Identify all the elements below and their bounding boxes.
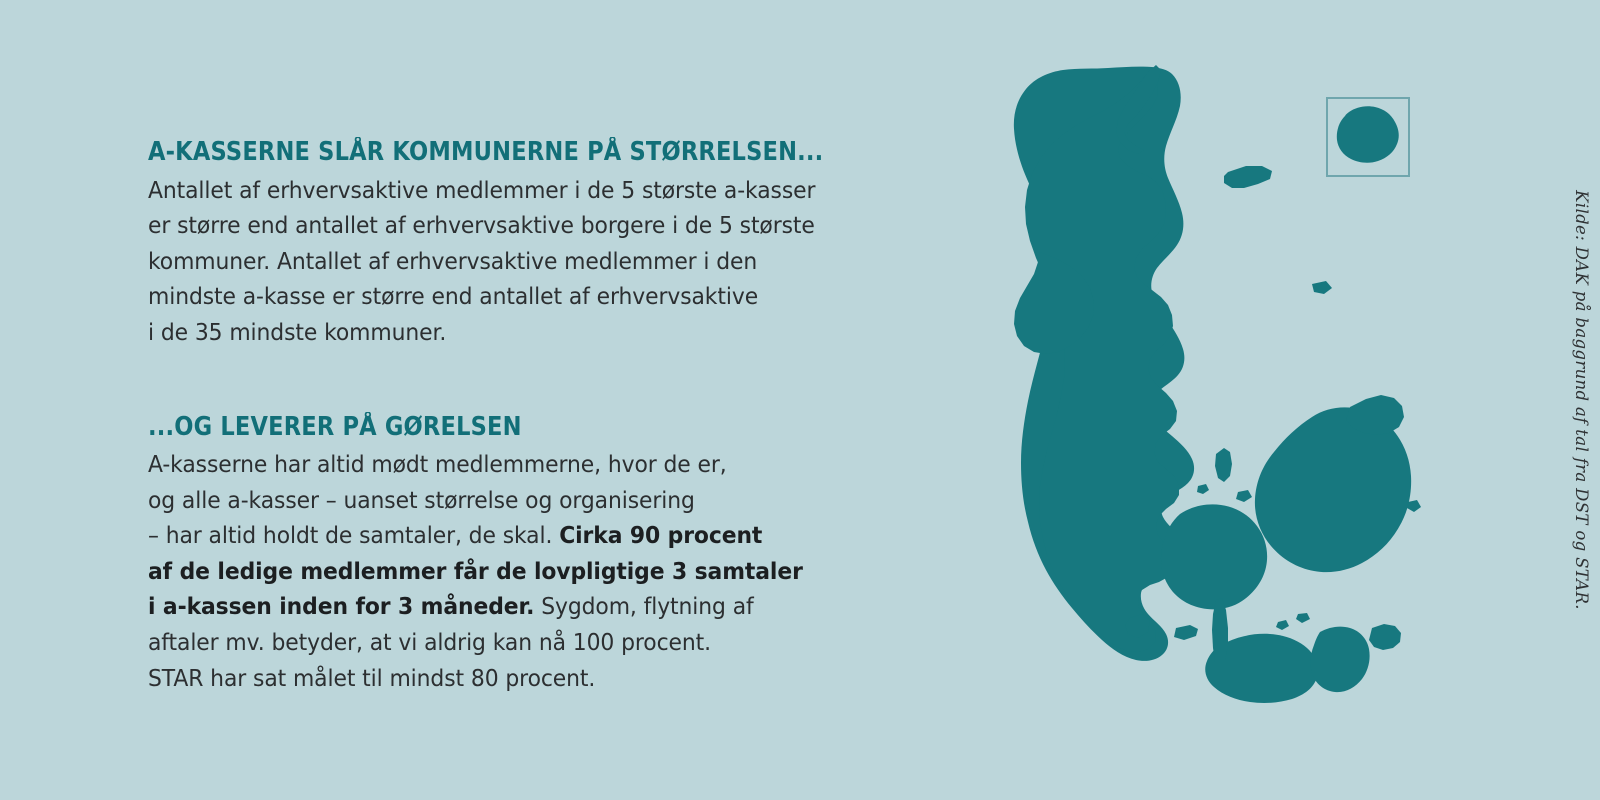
heading-size: A-KASSERNE SLÅR KOMMUNERNE PÅ STØRRELSEN… (148, 138, 821, 167)
bornholm-inset (1327, 98, 1409, 176)
shape-aeroe (1174, 625, 1198, 640)
shape-moen (1369, 624, 1401, 650)
body-line: A-kasserne har altid mødt medlemmerne, h… (148, 447, 859, 483)
paragraph-size: Antallet af erhvervsaktive medlemmer i d… (148, 173, 859, 351)
infographic-canvas: A-KASSERNE SLÅR KOMMUNERNE PÅ STØRRELSEN… (0, 0, 1600, 800)
body-line: er større end antallet af erhvervsaktive… (148, 208, 859, 244)
shape-small-isle-b (1276, 620, 1289, 630)
emphasis-line: af de ledige medlemmer får de lovpligtig… (148, 554, 859, 590)
shape-langeland (1212, 598, 1228, 666)
shape-samsoe (1215, 448, 1232, 482)
shape-small-isle-d (1407, 500, 1421, 512)
emphasis-run: Cirka 90 procent (559, 521, 762, 549)
body-line: kommuner. Antallet af erhvervsaktive med… (148, 244, 859, 280)
shape-endelave (1197, 484, 1209, 494)
body-text-run: – har altid holdt de samtaler, de skal. (148, 521, 559, 549)
shape-falster (1310, 627, 1369, 693)
body-text-run: Sygdom, flytning af (534, 592, 753, 620)
body-line: mindste a-kasse er større end antallet a… (148, 279, 859, 315)
paragraph-delivery: A-kasserne har altid mødt medlemmerne, h… (148, 447, 859, 696)
shape-small-isle-c (1296, 613, 1310, 623)
body-line: i de 35 mindste kommuner. (148, 315, 859, 351)
heading-delivery: ...OG LEVERER PÅ GØRELSEN (148, 413, 821, 442)
denmark-map (880, 62, 1480, 722)
shape-bornholm (1337, 106, 1399, 163)
body-line: STAR har sat målet til mindst 80 procent… (148, 661, 859, 697)
body-line: aftaler mv. betyder, at vi aldrig kan nå… (148, 625, 859, 661)
body-line-mixed: i a-kassen inden for 3 måneder. Sygdom, … (148, 589, 859, 625)
shape-anholt (1312, 281, 1332, 294)
source-credit: Kilde: DAK på baggrund af tal fra DST og… (1573, 190, 1592, 610)
body-line: og alle a-kasser – uanset størrelse og o… (148, 483, 859, 519)
body-line-mixed: – har altid holdt de samtaler, de skal. … (148, 518, 859, 554)
shape-laesoe (1224, 166, 1272, 188)
body-line: Antallet af erhvervsaktive medlemmer i d… (148, 173, 859, 209)
emphasis-run: i a-kassen inden for 3 måneder. (148, 592, 534, 620)
shape-fyn (1161, 504, 1267, 609)
text-block-size: A-KASSERNE SLÅR KOMMUNERNE PÅ STØRRELSEN… (148, 138, 908, 351)
shape-small-isle-a (1236, 490, 1252, 502)
text-column: A-KASSERNE SLÅR KOMMUNERNE PÅ STØRRELSEN… (148, 138, 908, 696)
text-block-delivery: ...OG LEVERER PÅ GØRELSEN A-kasserne har… (148, 413, 908, 697)
denmark-map-svg (880, 62, 1480, 722)
